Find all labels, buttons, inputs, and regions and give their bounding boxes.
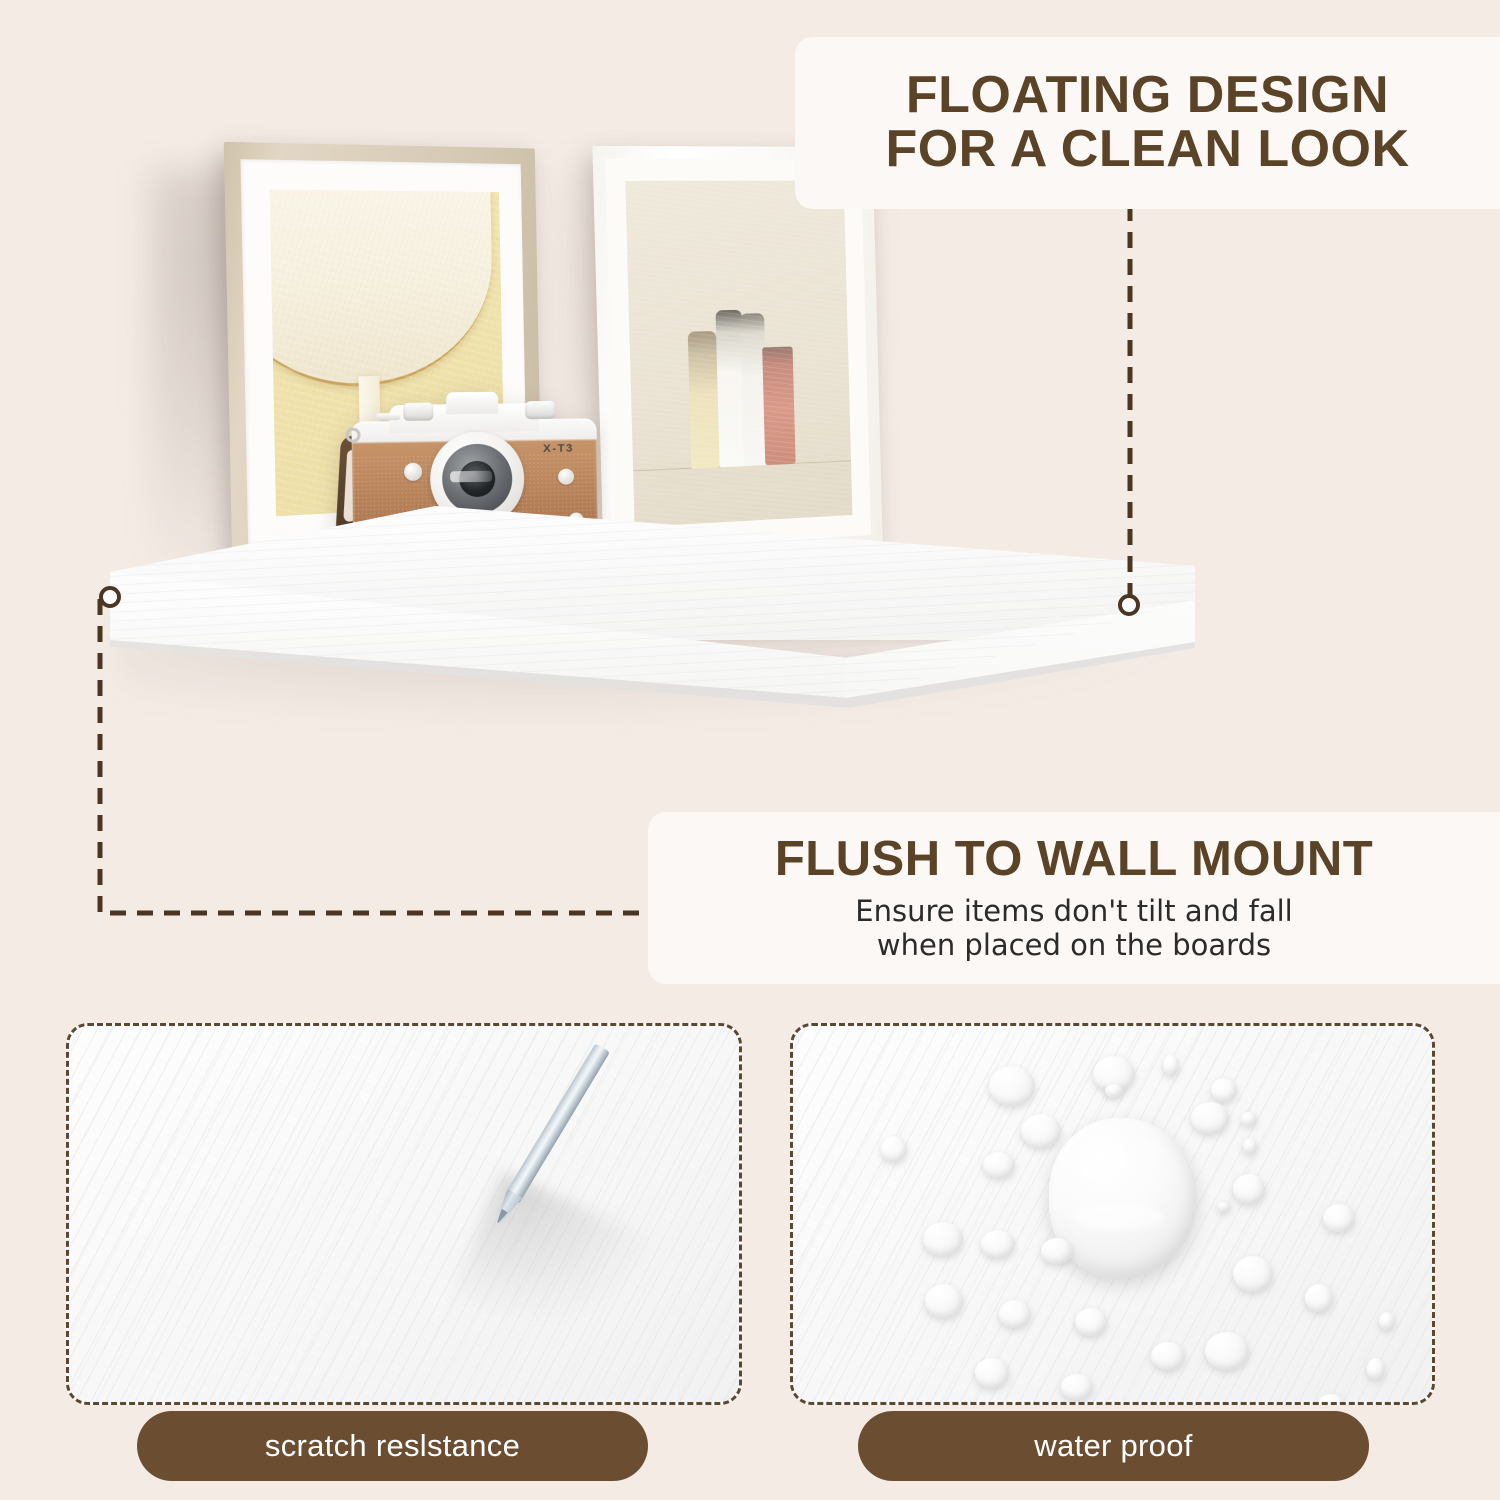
camera-dial-left (403, 403, 433, 421)
water-droplet (981, 1230, 1015, 1258)
water-droplet (923, 1222, 963, 1256)
water-droplet (1323, 1204, 1355, 1232)
water-droplet (1205, 1332, 1249, 1370)
still-life-bottles-art (625, 180, 852, 527)
water-droplet (1163, 1054, 1179, 1076)
art-texture-right (625, 180, 852, 527)
connector-line-right (1108, 205, 1152, 625)
product-infographic: X-T3 FLOATING DESIGN FOR A CLEAN LOOK FL… (0, 0, 1500, 1500)
feature-card-scratch (66, 1023, 742, 1405)
camera-model-label: X-T3 (543, 443, 574, 455)
water-droplet (1211, 1078, 1237, 1102)
water-droplet (1151, 1342, 1185, 1370)
callout-bottom-title: FLUSH TO WALL MOUNT (775, 834, 1373, 884)
water-droplet (1061, 1374, 1093, 1400)
water-droplet (1233, 1256, 1273, 1292)
camera-front-dial (404, 463, 422, 481)
water-droplet (1379, 1312, 1395, 1330)
water-droplet (975, 1358, 1009, 1388)
callout-top-title-line1: FLOATING DESIGN (906, 69, 1389, 123)
callout-bottom-subtitle-line1: Ensure items don't tilt and fall (855, 894, 1292, 928)
camera-dial-right (525, 401, 555, 419)
water-droplet (1191, 1102, 1229, 1134)
callout-top-title-line2: FOR A CLEAN LOOK (885, 123, 1409, 177)
water-droplet (1041, 1238, 1073, 1264)
water-droplet (925, 1284, 963, 1318)
water-droplet (999, 1300, 1031, 1328)
callout-marker-left (99, 586, 121, 608)
callout-floating-design: FLOATING DESIGN FOR A CLEAN LOOK (795, 37, 1500, 209)
water-droplet (983, 1152, 1015, 1178)
water-droplet (1075, 1308, 1107, 1336)
water-droplet (1021, 1114, 1061, 1148)
camera-shutter-button (376, 413, 400, 420)
water-droplet (1367, 1358, 1385, 1380)
water-droplet (881, 1136, 907, 1162)
callout-flush-mount: FLUSH TO WALL MOUNT Ensure items don't t… (648, 812, 1500, 984)
water-droplet (1105, 1084, 1123, 1098)
pill-scratch-label: scratch reslstance (265, 1428, 520, 1464)
water-droplet (1243, 1138, 1257, 1154)
pill-water-proof[interactable]: water proof (858, 1411, 1369, 1481)
pill-scratch-resistance[interactable]: scratch reslstance (137, 1411, 648, 1481)
callout-bottom-subtitle-line2: when placed on the boards (877, 928, 1271, 962)
callout-marker-right (1118, 594, 1140, 616)
water-droplet (989, 1066, 1035, 1106)
water-droplet (1217, 1202, 1231, 1212)
water-droplet (1233, 1174, 1265, 1204)
pill-water-label: water proof (1034, 1428, 1192, 1464)
feature-card-water (790, 1023, 1435, 1405)
connector-line-left (90, 585, 690, 930)
scratch-surface-texture (69, 1026, 739, 1402)
water-droplet (1241, 1112, 1257, 1126)
water-droplet (1305, 1284, 1333, 1312)
camera-viewfinder-prism (446, 392, 498, 415)
